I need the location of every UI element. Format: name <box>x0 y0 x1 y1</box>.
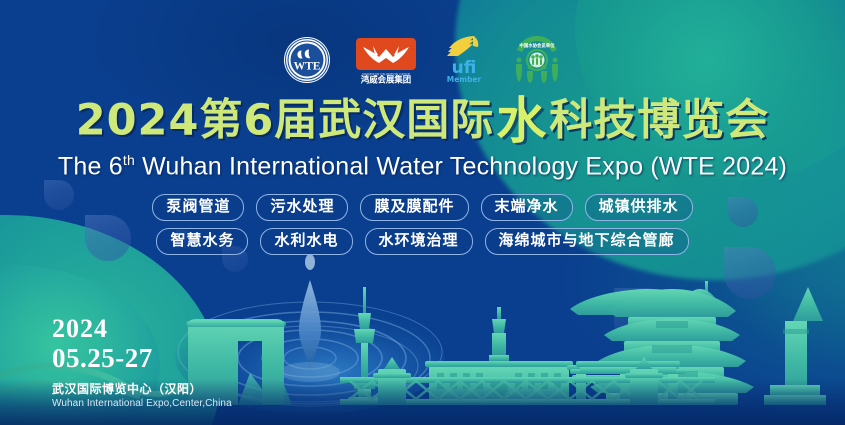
category-pill-urban-water-supply-drainage[interactable]: 城镇供排水 <box>585 194 693 221</box>
event-venue-chinese: 武汉国际博览中心（汉阳） <box>52 380 232 397</box>
category-pill-pump-valve-pipe[interactable]: 泵阀管道 <box>152 194 244 221</box>
category-pill-sponge-city-utility-tunnel[interactable]: 海绵城市与地下综合管廊 <box>485 228 689 255</box>
poster-banner: WTE GRANDEUR EXHIBITION GROUP 鸿威会展集团 ufi… <box>0 0 845 425</box>
page-title-english: The 6th Wuhan International Water Techno… <box>0 152 845 181</box>
title-chinese-water-character: 水 <box>494 92 549 150</box>
water-association-emblem-icon: 中国水协会员单位 <box>511 34 563 84</box>
title-english-prefix: The 6 <box>58 152 123 180</box>
category-pill-water-conservancy-hydropower[interactable]: 水利水电 <box>260 228 352 255</box>
svg-text:鸿威会展集团: 鸿威会展集团 <box>360 75 410 85</box>
wte-logo-icon: WTE <box>283 36 331 84</box>
category-pill-smart-water[interactable]: 智慧水务 <box>156 228 248 255</box>
title-english-rest: Wuhan International Water Technology Exp… <box>135 152 787 180</box>
hongwei-exhibition-group-logo-icon: GRANDEUR EXHIBITION GROUP 鸿威会展集团 <box>355 38 417 84</box>
category-pill-row-1: 泵阀管道 污水处理 膜及膜配件 末端净水 城镇供排水 <box>0 194 845 221</box>
category-pill-row-2: 智慧水务 水利水电 水环境治理 海绵城市与地下综合管廊 <box>0 228 845 255</box>
logo-row: WTE GRANDEUR EXHIBITION GROUP 鸿威会展集团 ufi… <box>0 30 845 84</box>
event-dates: 05.25-27 <box>52 344 232 374</box>
event-year: 2024 <box>52 315 232 342</box>
event-date-venue-block: 2024 05.25-27 武汉国际博览中心（汉阳） Wuhan Interna… <box>52 315 232 409</box>
svg-text:WTE: WTE <box>293 61 320 73</box>
svg-text:中国水协会员单位: 中国水协会员单位 <box>519 42 555 49</box>
category-pill-membrane-accessories[interactable]: 膜及膜配件 <box>360 194 468 221</box>
category-pill-water-environment-governance[interactable]: 水环境治理 <box>365 228 473 255</box>
category-pill-group: 泵阀管道 污水处理 膜及膜配件 末端净水 城镇供排水 智慧水务 水利水电 水环境… <box>0 194 845 262</box>
svg-text:Member: Member <box>446 75 481 84</box>
ufi-member-logo-icon: ufi Member <box>441 34 487 84</box>
category-pill-terminal-water-purification[interactable]: 末端净水 <box>481 194 573 221</box>
event-venue-english: Wuhan International Expo,Center,China <box>52 398 232 409</box>
title-english-ordinal: th <box>123 152 135 168</box>
title-chinese-part1: 2024第6届武汉国际 <box>76 96 495 146</box>
page-title-chinese: 2024第6届武汉国际水科技博览会 <box>0 96 845 146</box>
category-pill-sewage-treatment[interactable]: 污水处理 <box>256 194 348 221</box>
title-chinese-part2: 科技博览会 <box>549 96 769 146</box>
